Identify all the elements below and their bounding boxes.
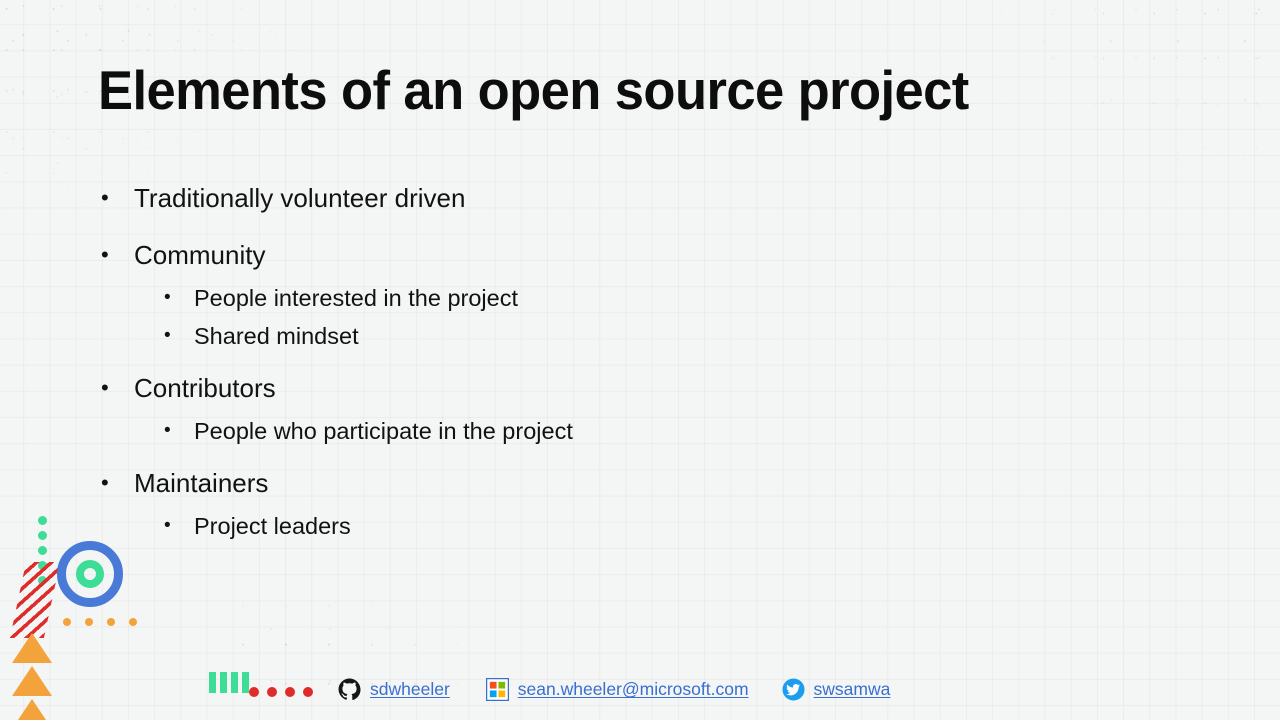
red-diagonal-stripes-icon: [10, 562, 60, 638]
orange-triangle-icon: [12, 666, 52, 696]
green-bar-icon: [242, 672, 249, 693]
bullet-item-level2: • People interested in the project: [96, 279, 1076, 317]
footer-link-label[interactable]: sean.wheeler@microsoft.com: [518, 679, 749, 699]
bullet-marker-icon: •: [164, 279, 171, 317]
slide-canvas: Elements of an open source project • Tra…: [0, 0, 1280, 720]
footer-link-github[interactable]: sdwheeler: [338, 674, 450, 704]
microsoft-icon: [486, 678, 509, 701]
orange-dot-icon: [85, 618, 93, 626]
footer-links: sdwheeler sean.wheeler@microsoft.com: [338, 674, 890, 704]
bullet-spacer: [96, 222, 1076, 231]
bullet-marker-icon: •: [101, 231, 109, 279]
green-bar-icon: [209, 672, 216, 693]
green-dot-icon: [38, 516, 47, 525]
bullet-text: People interested in the project: [96, 279, 1076, 317]
bullet-spacer: [96, 450, 1076, 459]
bullet-marker-icon: •: [164, 317, 171, 355]
orange-dot-icon: [107, 618, 115, 626]
green-bar-icon: [220, 672, 227, 693]
bullet-item-level2: • Shared mindset: [96, 317, 1076, 355]
red-dot-icon: [267, 687, 277, 697]
bullet-spacer: [96, 355, 1076, 364]
footer-link-twitter[interactable]: swsamwa: [782, 674, 891, 704]
footer-link-email[interactable]: sean.wheeler@microsoft.com: [486, 674, 749, 704]
bullet-item-level1: • Community: [96, 231, 1076, 279]
green-dot-icon: [38, 546, 47, 555]
decorative-graphic-cluster: [0, 500, 310, 720]
footer-link-label[interactable]: sdwheeler: [370, 679, 450, 699]
bullet-marker-icon: •: [101, 174, 109, 222]
orange-dot-icon: [129, 618, 137, 626]
orange-dot-icon: [63, 618, 71, 626]
bullet-item-level1: • Contributors: [96, 364, 1076, 412]
bullet-text: Community: [96, 231, 1076, 279]
green-bar-icon: [231, 672, 238, 693]
bullet-list: • Traditionally volunteer driven • Commu…: [96, 174, 1076, 545]
orange-triangle-icon: [12, 633, 52, 663]
footer-link-label[interactable]: swsamwa: [814, 679, 891, 699]
bullet-marker-icon: •: [101, 364, 109, 412]
green-dot-icon: [38, 531, 47, 540]
red-dot-icon: [303, 687, 313, 697]
bullet-text: Shared mindset: [96, 317, 1076, 355]
bullet-item-level1: • Traditionally volunteer driven: [96, 174, 1076, 222]
bullet-item-level2: • People who participate in the project: [96, 412, 1076, 450]
bullet-text: Contributors: [96, 364, 1076, 412]
slide-title: Elements of an open source project: [98, 57, 1091, 123]
target-ring-inner-icon: [76, 560, 104, 588]
bullet-marker-icon: •: [164, 412, 171, 450]
github-icon: [338, 678, 361, 701]
orange-triangle-icon: [12, 699, 52, 720]
bullet-text: People who participate in the project: [96, 412, 1076, 450]
twitter-icon: [782, 678, 805, 701]
bullet-text: Traditionally volunteer driven: [96, 174, 1076, 222]
red-dot-icon: [285, 687, 295, 697]
red-dot-icon: [249, 687, 259, 697]
